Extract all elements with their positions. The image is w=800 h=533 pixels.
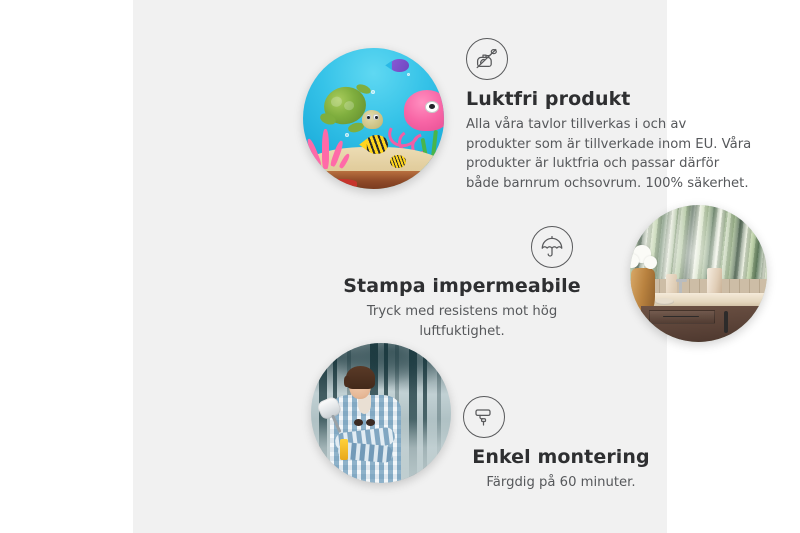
feature-easy-mounting: Enkel montering Färgdig på 60 minuter.: [455, 396, 667, 493]
octopus: [396, 90, 444, 155]
feature-odour-free: Luktfri produkt Alla våra tavlor tillver…: [466, 38, 754, 194]
octopus-eye: [425, 101, 439, 113]
octopus-head: [404, 90, 444, 130]
paint-roller-glyph: [471, 404, 497, 430]
cabinet-handle: [724, 311, 728, 333]
soap-dish: [655, 298, 674, 305]
sea-life-photo: [303, 48, 444, 189]
painter-forest-photo: [311, 343, 451, 483]
no-odour-spray-bottle-icon: [466, 38, 508, 80]
umbrella-icon: [531, 226, 573, 268]
feature-body: Färgdig på 60 minuter.: [455, 473, 667, 493]
sea-floor-foreground: [303, 171, 444, 189]
pink-coral: [306, 124, 354, 169]
painter-eye: [366, 419, 375, 426]
icon-wrap: [466, 38, 754, 80]
purple-fish: [390, 59, 408, 72]
turtle-head: [362, 110, 383, 129]
umbrella-glyph: [539, 234, 565, 260]
coral-branch: [322, 129, 329, 170]
wooden-vanity: [641, 306, 767, 342]
coral-branch: [339, 153, 352, 170]
feature-body: Alla våra tavlor tillverkas i och av pro…: [466, 115, 754, 194]
yellow-fish: [365, 135, 388, 153]
content-panel: Luktfri produkt Alla våra tavlor tillver…: [133, 0, 667, 533]
painter-eye: [354, 419, 363, 426]
feature-title: Enkel montering: [455, 447, 667, 469]
screenshot-canvas: Luktfri produkt Alla våra tavlor tillver…: [0, 0, 800, 533]
roller-stem: [331, 415, 341, 433]
feature-waterproof-print: Stampa impermeabile Tryck med resistens …: [331, 226, 593, 341]
paint-roller-icon: [463, 396, 505, 438]
icon-wrap: [455, 396, 667, 438]
feature-body: Tryck med resistens mot hög luftfuktighe…: [331, 302, 593, 342]
feature-title: Luktfri produkt: [466, 89, 754, 111]
turtle-eye: [373, 114, 378, 121]
yellow-fish: [390, 155, 406, 168]
flower-bloom: [644, 256, 657, 269]
vanity-drawer: [649, 310, 715, 324]
cabinet-handle: [756, 311, 760, 333]
white-flowers: [630, 243, 662, 273]
painter-hair: [346, 366, 374, 389]
turtle-eye: [366, 114, 371, 121]
feature-title: Stampa impermeabile: [331, 276, 593, 298]
icon-wrap: [331, 226, 593, 268]
bathroom-photo: [630, 205, 767, 342]
no-odour-spray-bottle-glyph: [474, 46, 500, 72]
tool-handle: [340, 439, 348, 460]
painter-person: [325, 368, 406, 483]
